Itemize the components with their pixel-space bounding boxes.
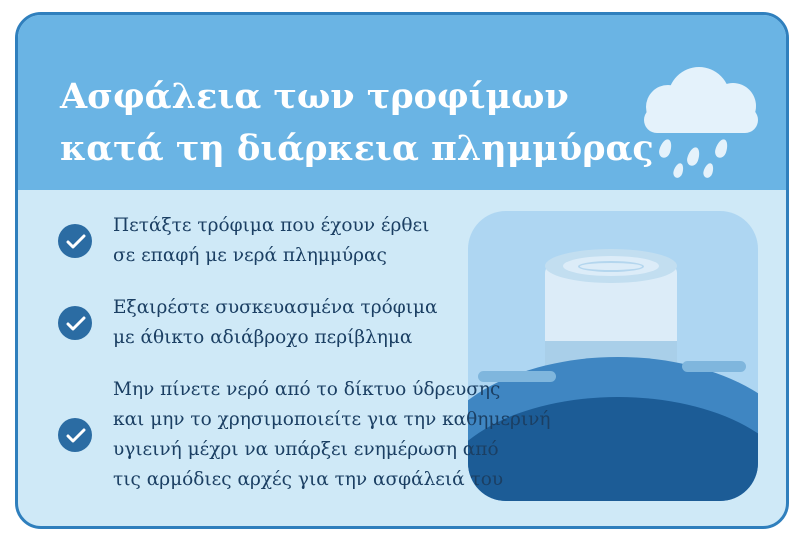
rain-drop-icon [685, 146, 701, 167]
check-icon [58, 418, 92, 452]
water-highlight-right [682, 361, 746, 372]
list-item-text: Πετάξτε τρόφιμα που έχουν έρθει σε επαφή… [113, 211, 528, 271]
check-icon [58, 224, 92, 258]
infographic-card: Ασφάλεια των τροφίμων κατά τη διάρκεια π… [15, 12, 789, 529]
cloud-puff-right [710, 83, 756, 129]
list-item: Εξαιρέστε συσκευασμένα τρόφιμα με άθικτο… [58, 293, 528, 353]
list-item: Πετάξτε τρόφιμα που έχουν έρθει σε επαφή… [58, 211, 528, 271]
rain-drop-icon [713, 138, 729, 159]
title-line-1: Ασφάλεια των τροφίμων [60, 71, 620, 123]
list-item-text: Μην πίνετε νερό από το δίκτυο ύδρευσης κ… [113, 375, 528, 495]
rain-drop-icon [672, 162, 685, 179]
rain-cloud-icon [638, 63, 768, 181]
list-item-line: και μην το χρησιμοποιείτε για την καθημε… [113, 405, 528, 435]
list-item: Μην πίνετε νερό από το δίκτυο ύδρευσης κ… [58, 375, 528, 495]
bullet-list: Πετάξτε τρόφιμα που έχουν έρθει σε επαφή… [58, 211, 528, 517]
list-item-line: Εξαιρέστε συσκευασμένα τρόφιμα [113, 293, 528, 323]
list-item-line: υγιεινή μέχρι να υπάρξει ενημέρωση από [113, 435, 528, 465]
rain-drop-icon [657, 138, 673, 159]
rain-drop-icon [702, 162, 715, 179]
title-line-2: κατά τη διάρκεια πλημμύρας [60, 123, 620, 175]
can-lid-ring [578, 261, 644, 272]
list-item-line: σε επαφή με νερά πλημμύρας [113, 241, 528, 271]
card-header: Ασφάλεια των τροφίμων κατά τη διάρκεια π… [18, 15, 786, 190]
list-item-line: τις αρμόδιες αρχές για την ασφάλειά του [113, 465, 528, 495]
list-item-line: Πετάξτε τρόφιμα που έχουν έρθει [113, 211, 528, 241]
list-item-line: με άθικτο αδιάβροχο περίβλημα [113, 323, 528, 353]
check-icon [58, 306, 92, 340]
page-title: Ασφάλεια των τροφίμων κατά τη διάρκεια π… [60, 71, 620, 175]
list-item-line: Μην πίνετε νερό από το δίκτυο ύδρευσης [113, 375, 528, 405]
list-item-text: Εξαιρέστε συσκευασμένα τρόφιμα με άθικτο… [113, 293, 528, 353]
